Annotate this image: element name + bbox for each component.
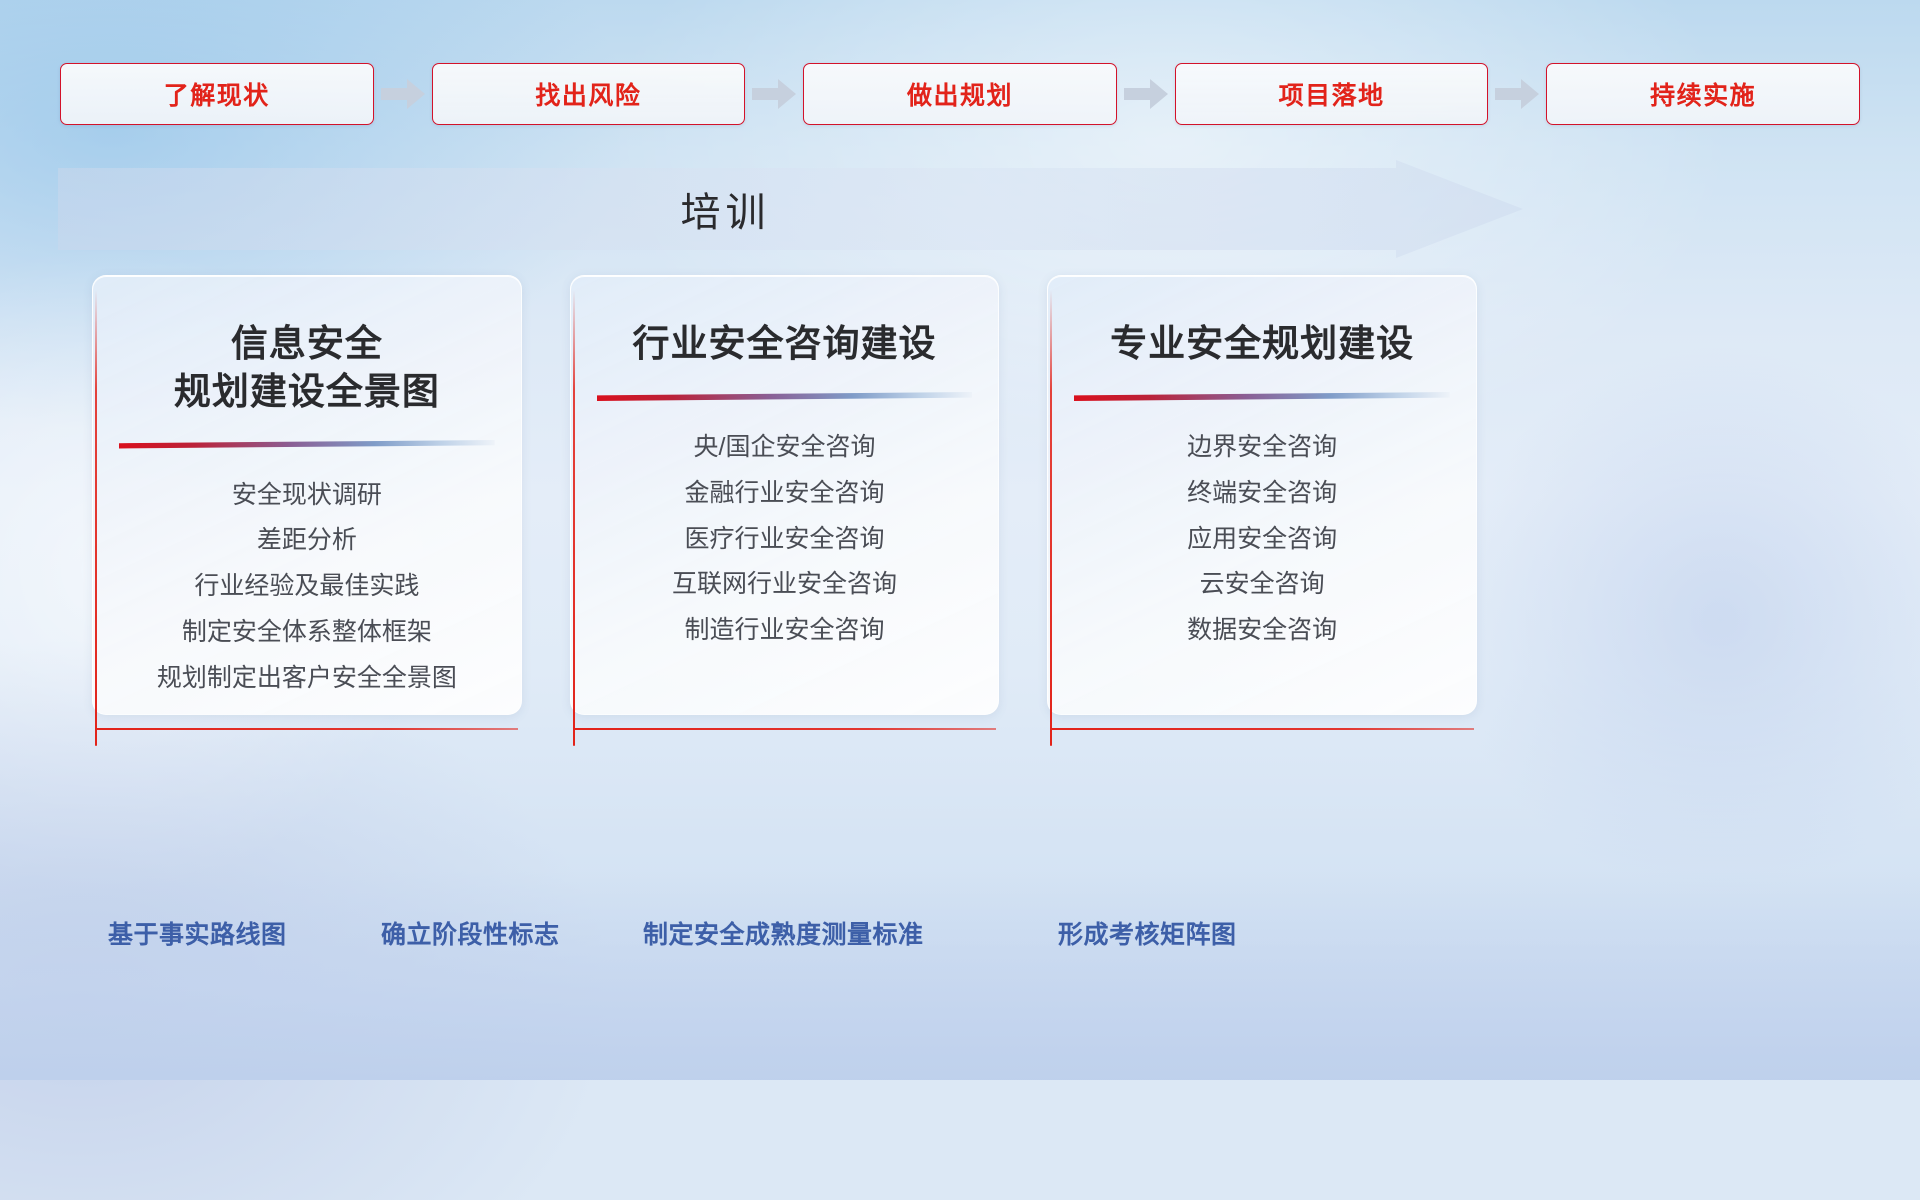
service-card-1[interactable]: 信息安全 规划建设全景图 安全现状调研 差距分析 行 [92,275,522,715]
caption-3: 制定安全成熟度测量标准 [643,915,924,951]
step-box-4[interactable]: 项目落地 [1175,63,1489,125]
gradient-rule [1074,392,1450,401]
card-bottom-accent [573,728,996,730]
service-card-3[interactable]: 专业安全规划建设 边界安全咨询 终端安全咨询 应用安 [1047,275,1477,715]
background-bottom-band [0,870,1920,1080]
step-label: 做出规划 [907,76,1013,112]
card-bottom-accent [1050,728,1473,730]
card-item-list: 安全现状调研 差距分析 行业经验及最佳实践 制定安全体系整体框架 规划制定出客户… [157,479,457,696]
gradient-rule [597,392,973,401]
arrow-right-icon [745,63,803,125]
step-box-2[interactable]: 找出风险 [432,63,746,125]
list-item: 医疗行业安全咨询 [685,523,885,557]
list-item: 应用安全咨询 [1187,523,1337,557]
list-item: 金融行业安全咨询 [685,477,885,511]
list-item: 行业经验及最佳实践 [194,570,419,604]
card-left-accent [1050,290,1052,746]
step-label: 持续实施 [1650,76,1756,112]
banner-label-wrap: 培训 [58,160,1523,258]
list-item: 制定安全体系整体框架 [182,616,432,650]
list-item: 终端安全咨询 [1187,477,1337,511]
card-title: 信息安全 规划建设全景图 [174,320,440,416]
banner-label: 培训 [681,180,771,238]
step-box-3[interactable]: 做出规划 [803,63,1117,125]
card-left-accent [573,290,575,746]
list-item: 规划制定出客户安全全景图 [157,662,457,696]
step-box-5[interactable]: 持续实施 [1546,63,1860,125]
card-left-accent [95,290,97,746]
caption-4: 形成考核矩阵图 [1058,915,1237,951]
service-card-2[interactable]: 行业安全咨询建设 央/国企安全咨询 金融行业安全咨询 [570,275,1000,715]
arrow-right-icon [1117,63,1175,125]
process-step-flow: 了解现状 找出风险 做出规划 项目落地 持续实施 [60,63,1860,125]
list-item: 央/国企安全咨询 [694,431,876,465]
card-bottom-accent [95,728,518,730]
service-card-group: 信息安全 规划建设全景图 安全现状调研 差距分析 行 [92,275,1477,715]
list-item: 安全现状调研 [232,479,382,513]
step-label: 找出风险 [535,76,641,112]
caption-1: 基于事实路线图 [108,915,287,951]
gradient-rule [119,440,495,448]
list-item: 制造行业安全咨询 [685,614,885,648]
step-box-1[interactable]: 了解现状 [60,63,374,125]
step-label: 项目落地 [1279,76,1385,112]
list-item: 互联网行业安全咨询 [672,568,897,602]
caption-row: 基于事实路线图 确立阶段性标志 制定安全成熟度测量标准 形成考核矩阵图 [0,915,1920,965]
arrow-right-icon [374,63,432,125]
card-title: 专业安全规划建设 [1110,320,1414,368]
list-item: 边界安全咨询 [1187,431,1337,465]
step-label: 了解现状 [164,76,270,112]
training-banner: 培训 [58,160,1523,258]
list-item: 差距分析 [257,524,357,558]
caption-2: 确立阶段性标志 [381,915,560,951]
list-item: 云安全咨询 [1200,568,1325,602]
card-item-list: 边界安全咨询 终端安全咨询 应用安全咨询 云安全咨询 数据安全咨询 [1187,431,1337,648]
card-title: 行业安全咨询建设 [633,320,937,368]
card-item-list: 央/国企安全咨询 金融行业安全咨询 医疗行业安全咨询 互联网行业安全咨询 制造行… [672,431,897,648]
arrow-right-icon [1488,63,1546,125]
list-item: 数据安全咨询 [1187,614,1337,648]
